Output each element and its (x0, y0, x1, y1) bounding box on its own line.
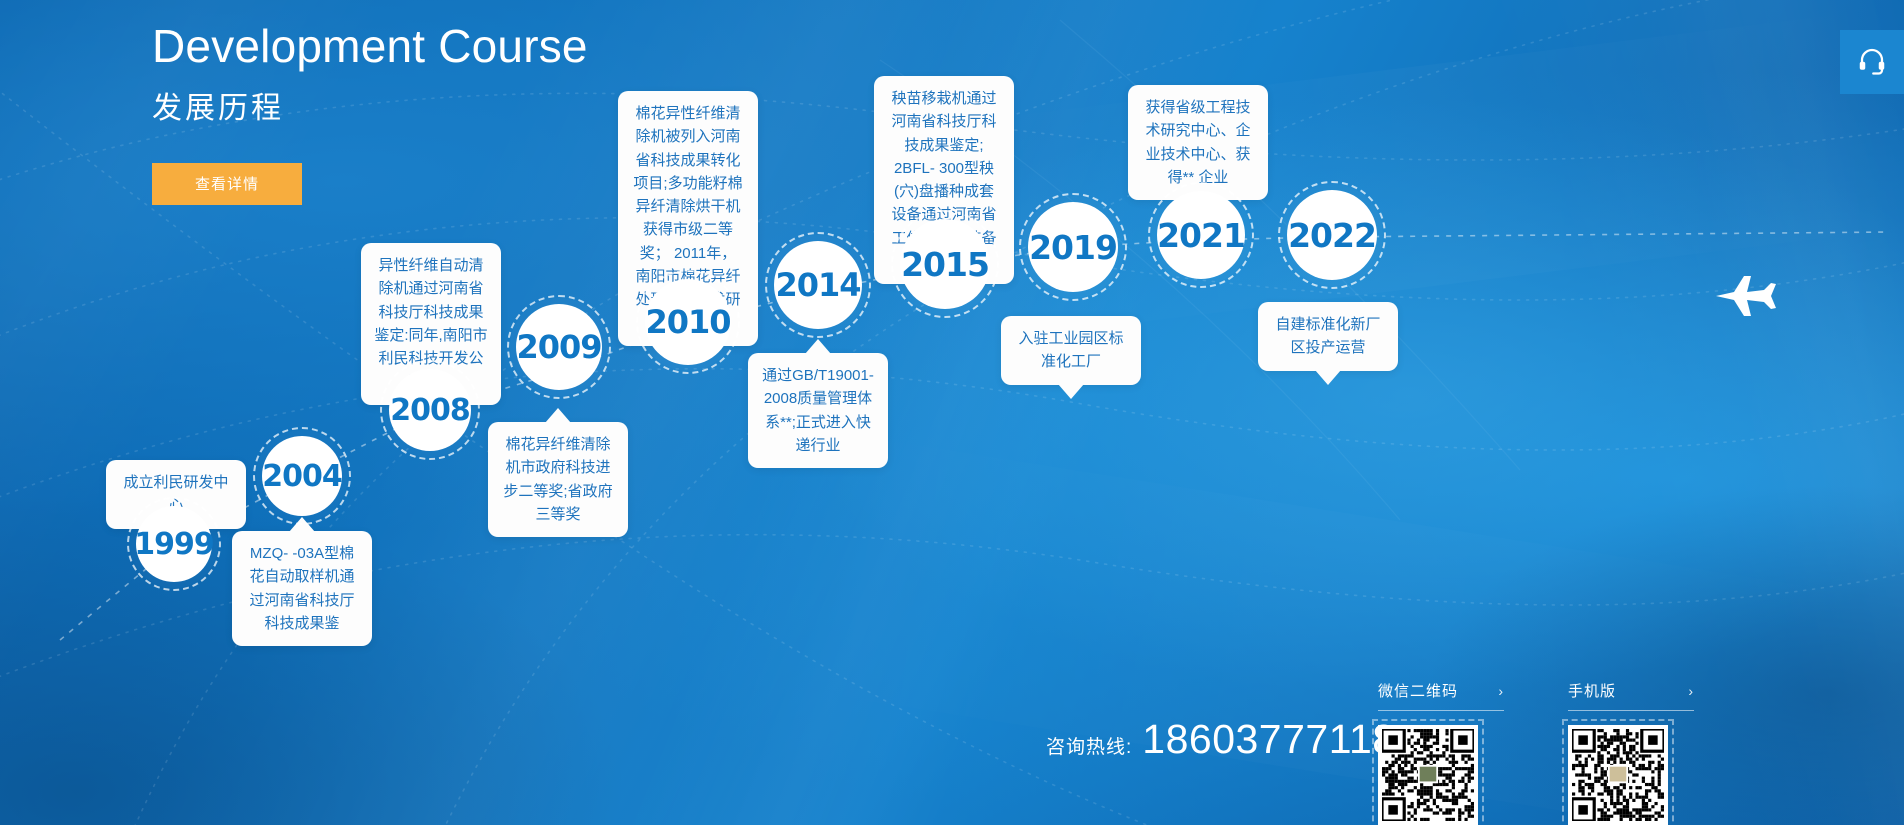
qr-mobile-link[interactable]: 手机版 › (1568, 680, 1694, 711)
chevron-right-icon: › (1498, 683, 1504, 699)
timeline-node-2014[interactable]: 2014 (774, 241, 862, 329)
timeline-node-2004[interactable]: 2004 (262, 436, 342, 516)
page-header: Development Course 发展历程 查看详情 (152, 20, 588, 205)
page-title-english: Development Course (152, 20, 588, 73)
chevron-right-icon: › (1688, 683, 1694, 699)
qr-block-mobile: 手机版 › (1568, 680, 1694, 825)
qr-code-icon-wechat[interactable] (1378, 725, 1478, 825)
timeline-year-label: 2010 (645, 303, 730, 341)
callout-pointer (805, 339, 831, 354)
timeline-year-label: 2008 (390, 393, 470, 428)
qr-block-wechat: 微信二维码 › (1378, 680, 1504, 825)
timeline-node-2015[interactable]: 2015 (900, 219, 990, 309)
timeline-node-2021[interactable]: 2021 (1157, 191, 1245, 279)
timeline-year-label: 1999 (134, 527, 214, 562)
callout-text: MZQ- -03A型棉花自动取样机通过河南省科技厅科技成果鉴 (249, 545, 354, 632)
hotline-number[interactable]: 18603777118 (1142, 716, 1395, 763)
timeline-year-label: 2021 (1157, 216, 1245, 255)
timeline-year-label: 2009 (516, 328, 601, 366)
page-title-chinese: 发展历程 (152, 83, 588, 127)
timeline-callout-2014[interactable]: 通过GB/T19001-2008质量管理体系**;正式进入快递行业 (748, 353, 888, 468)
timeline-year-label: 2004 (262, 459, 342, 494)
timeline-callout-2021[interactable]: 获得省级工程技术研究中心、企业技术中心、获得** 企业 (1128, 85, 1268, 200)
callout-text: 入驻工业园区标准化工厂 (1018, 330, 1123, 370)
qr-code-icon-mobile[interactable] (1568, 725, 1668, 825)
hotline: 咨询热线: 18603777118 (1046, 716, 1396, 763)
callout-pointer (1315, 370, 1341, 385)
callout-text: 通过GB/T19001-2008质量管理体系**;正式进入快递行业 (762, 367, 874, 454)
timeline-node-2009[interactable]: 2009 (516, 304, 602, 390)
timeline-callout-2004[interactable]: MZQ- -03A型棉花自动取样机通过河南省科技厅科技成果鉴 (232, 531, 372, 646)
customer-service-button[interactable] (1840, 30, 1904, 94)
timeline-year-label: 2022 (1288, 216, 1376, 255)
timeline-year-label: 2015 (901, 245, 989, 284)
callout-text: 获得省级工程技术研究中心、企业技术中心、获得** 企业 (1145, 99, 1250, 186)
timeline-node-2008[interactable]: 2008 (389, 369, 471, 451)
timeline-node-2019[interactable]: 2019 (1028, 202, 1118, 292)
timeline-node-2022[interactable]: 2022 (1287, 190, 1377, 280)
airplane-icon (1714, 270, 1778, 322)
timeline-callout-2009[interactable]: 棉花异纤维清除机市政府科技进步二等奖;省政府三等奖 (488, 422, 628, 537)
headset-icon (1857, 45, 1887, 80)
hotline-label: 咨询热线: (1046, 732, 1132, 759)
qr-mobile-label: 手机版 (1568, 680, 1616, 701)
timeline-callout-2019[interactable]: 入驻工业园区标准化工厂 (1001, 316, 1141, 385)
timeline-year-label: 2019 (1029, 228, 1117, 267)
callout-text: 自建标准化新厂区投产运营 (1275, 316, 1380, 356)
callout-text: 棉花异纤维清除机市政府科技进步二等奖;省政府三等奖 (503, 436, 612, 523)
timeline-callout-2022[interactable]: 自建标准化新厂区投产运营 (1258, 302, 1398, 371)
timeline-node-1999[interactable]: 1999 (136, 506, 212, 582)
view-details-button[interactable]: 查看详情 (152, 163, 302, 205)
callout-pointer (545, 408, 571, 423)
qr-wechat-link[interactable]: 微信二维码 › (1378, 680, 1504, 711)
timeline-year-label: 2014 (775, 266, 860, 304)
callout-pointer (1058, 384, 1084, 399)
callout-pointer (289, 517, 315, 532)
qr-wechat-label: 微信二维码 (1378, 680, 1458, 701)
timeline-node-2010[interactable]: 2010 (645, 279, 731, 365)
